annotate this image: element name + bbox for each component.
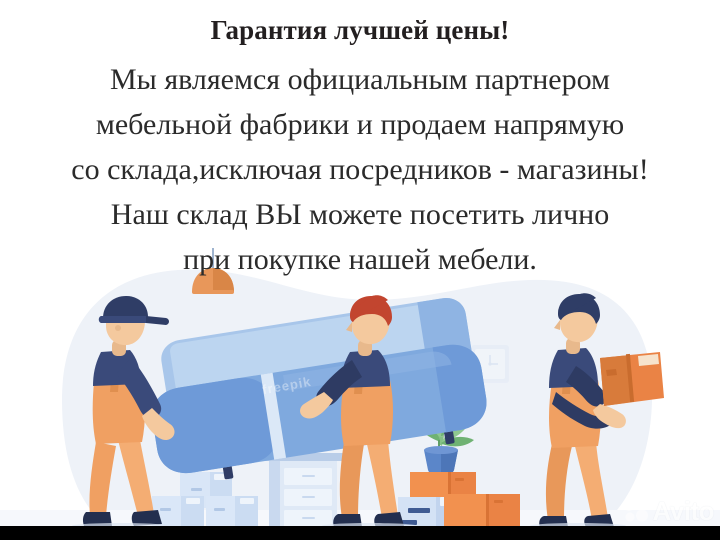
warehouse-illustration: [0, 0, 720, 540]
advertisement-banner: freepik Гарантия лучшей цены! Мы являемс…: [0, 0, 720, 540]
bottom-black-bar: [0, 526, 720, 540]
carried-box: [600, 352, 664, 406]
filing-cabinet: [262, 453, 344, 527]
